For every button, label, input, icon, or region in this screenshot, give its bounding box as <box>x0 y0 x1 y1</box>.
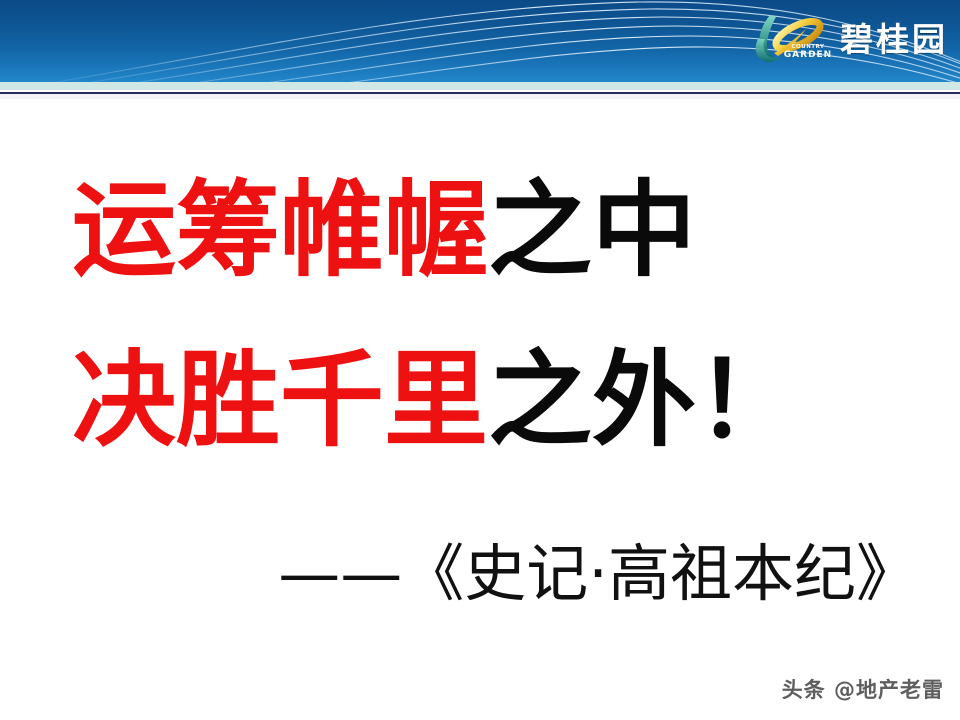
quote-line-1: 运筹帷幄之中 <box>72 178 892 282</box>
country-garden-emblem-icon: COUNTRY GARDEN <box>748 9 834 69</box>
slide-canvas: COUNTRY GARDEN 碧桂园 运筹帷幄之中 决胜千里之外！ ——《史记·… <box>0 0 960 720</box>
header-banner: COUNTRY GARDEN 碧桂园 <box>0 0 960 82</box>
banner-below-band <box>0 94 960 99</box>
logo: COUNTRY GARDEN 碧桂园 <box>748 8 948 70</box>
quote-block: 运筹帷幄之中 决胜千里之外！ <box>72 178 892 452</box>
banner-cyan-band <box>0 82 960 90</box>
quote-line-1-emphasis: 运筹帷幄 <box>72 169 488 291</box>
watermark: 头条 @地产老雷 <box>782 674 944 704</box>
logo-wordmark: 碧桂园 <box>840 23 948 56</box>
quote-line-2-rest: 之外！ <box>488 339 800 461</box>
quote-attribution: ——《史记·高祖本纪》 <box>0 538 918 609</box>
quote-line-2-emphasis: 决胜千里 <box>72 339 488 461</box>
emblem-garden-label: GARDEN <box>782 51 834 60</box>
emblem-english-text: COUNTRY GARDEN <box>782 45 834 60</box>
quote-line-2: 决胜千里之外！ <box>72 348 892 452</box>
quote-line-1-rest: 之中 <box>488 169 696 291</box>
